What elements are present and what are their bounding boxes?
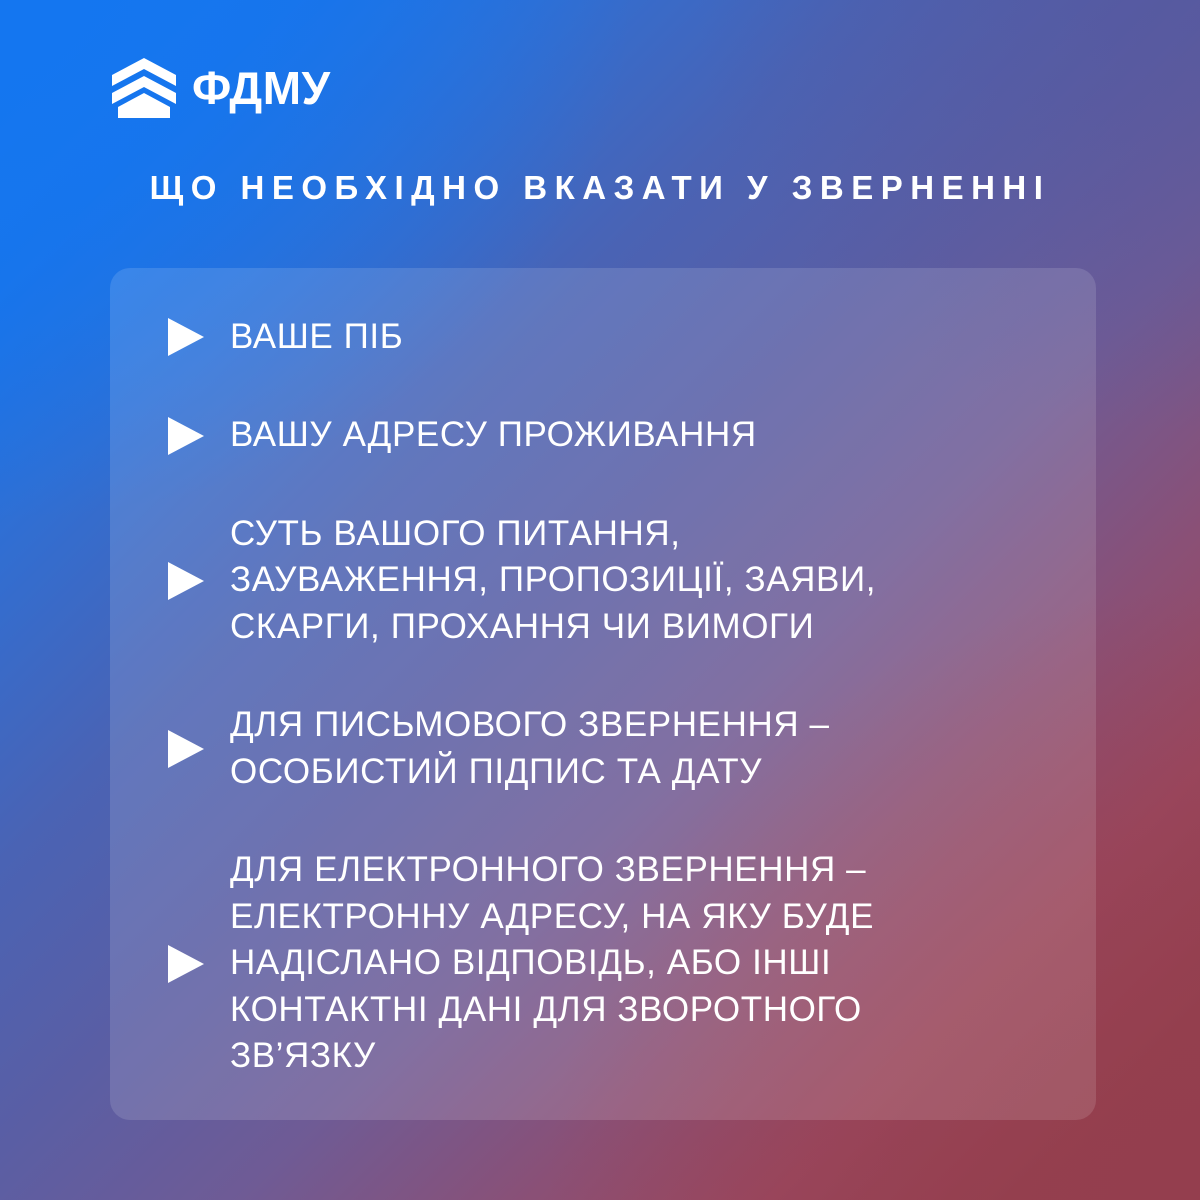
page-title: ЩО НЕОБХІДНО ВКАЗАТИ У ЗВЕРНЕННІ xyxy=(0,168,1200,208)
requirements-list: ВАШЕ ПІБ ВАШУ АДРЕСУ ПРОЖИВАННЯ СУТЬ ВАШ… xyxy=(110,268,1096,1120)
list-item-label: ВАШУ АДРЕСУ ПРОЖИВАННЯ xyxy=(230,412,757,459)
list-item-label: ДЛЯ ПИСЬМОВОГО ЗВЕРНЕННЯ – ОСОБИСТИЙ ПІД… xyxy=(230,702,830,795)
list-item: ВАШЕ ПІБ xyxy=(140,314,1066,361)
requirements-card: ВАШЕ ПІБ ВАШУ АДРЕСУ ПРОЖИВАННЯ СУТЬ ВАШ… xyxy=(110,268,1096,1120)
list-item-label: ДЛЯ ЕЛЕКТРОННОГО ЗВЕРНЕННЯ – ЕЛЕКТРОННУ … xyxy=(230,847,874,1080)
triangle-right-bullet-icon xyxy=(168,318,204,356)
list-item-label: ВАШЕ ПІБ xyxy=(230,314,403,361)
list-item-label: СУТЬ ВАШОГО ПИТАННЯ, ЗАУВАЖЕННЯ, ПРОПОЗИ… xyxy=(230,511,876,651)
triangle-right-bullet-icon xyxy=(168,945,204,983)
list-item: ВАШУ АДРЕСУ ПРОЖИВАННЯ xyxy=(140,412,1066,459)
fdmu-chevron-house-logo-icon xyxy=(112,58,176,118)
brand-wordmark: ФДМУ xyxy=(192,65,331,111)
triangle-right-bullet-icon xyxy=(168,562,204,600)
list-item: ДЛЯ ПИСЬМОВОГО ЗВЕРНЕННЯ – ОСОБИСТИЙ ПІД… xyxy=(140,702,1066,795)
list-item: ДЛЯ ЕЛЕКТРОННОГО ЗВЕРНЕННЯ – ЕЛЕКТРОННУ … xyxy=(140,847,1066,1080)
triangle-right-bullet-icon xyxy=(168,417,204,455)
triangle-right-bullet-icon xyxy=(168,730,204,768)
brand-header: ФДМУ xyxy=(112,58,331,118)
list-item: СУТЬ ВАШОГО ПИТАННЯ, ЗАУВАЖЕННЯ, ПРОПОЗИ… xyxy=(140,511,1066,651)
